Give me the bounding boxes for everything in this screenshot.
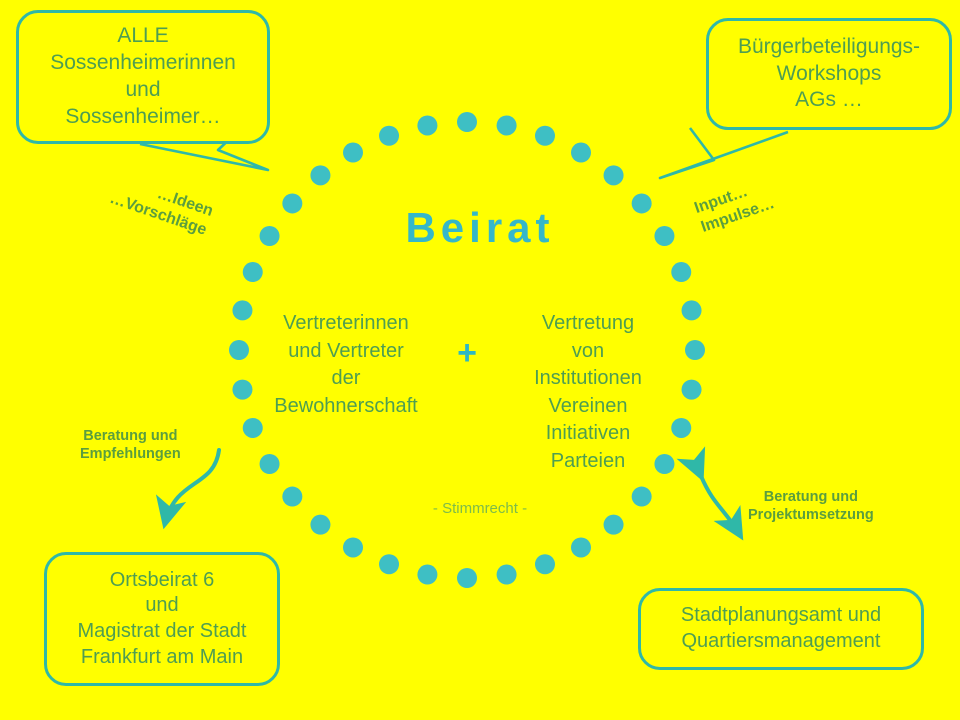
- caption-beratung-empfehlungen: Beratung und Empfehlungen: [80, 428, 181, 463]
- circle-dot: [417, 565, 437, 585]
- circle-dot: [243, 262, 263, 282]
- circle-dot: [671, 262, 691, 282]
- column-line: und Vertreter: [265, 338, 427, 366]
- circle-dot: [457, 112, 477, 132]
- callout-line: Sossenheimer…: [65, 104, 220, 131]
- circle-dot: [571, 537, 591, 557]
- callout-box-buergerbeteiligung[interactable]: Bürgerbeteiligungs- Workshops AGs …: [706, 18, 952, 130]
- circle-dot: [243, 418, 263, 438]
- callout-box-alle[interactable]: ALLE Sossenheimerinnen und Sossenheimer…: [16, 10, 270, 144]
- circle-dot: [379, 554, 399, 574]
- column-line: Institutionen: [507, 365, 669, 393]
- column-line: Parteien: [507, 448, 669, 476]
- column-line: der: [265, 365, 427, 393]
- callout-line: Bürgerbeteiligungs-: [738, 34, 920, 61]
- center-columns: Vertreterinnen und Vertreter der Bewohne…: [265, 310, 669, 476]
- callout-line: Workshops: [777, 61, 882, 88]
- callout-line: Quartiersmanagement: [682, 629, 881, 655]
- callout-line: Stadtplanungsamt und: [681, 603, 881, 629]
- plus-icon: +: [444, 310, 490, 370]
- circle-dot: [379, 126, 399, 146]
- circle-dot: [604, 165, 624, 185]
- circle-dot: [604, 515, 624, 535]
- circle-dot: [497, 565, 517, 585]
- circle-dot: [457, 568, 477, 588]
- callout-line: Ortsbeirat 6: [110, 568, 214, 594]
- circle-dot: [229, 340, 249, 360]
- caption-line: Empfehlungen: [80, 446, 181, 464]
- callout-line: ALLE: [117, 23, 168, 50]
- column-institutionen: Vertretung von Institutionen Vereinen In…: [507, 310, 669, 476]
- circle-dot: [232, 300, 252, 320]
- circle-dot: [671, 418, 691, 438]
- column-line: Initiativen: [507, 420, 669, 448]
- callout-line: Magistrat der Stadt: [78, 619, 247, 645]
- callout-line: Frankfurt am Main: [81, 645, 243, 671]
- circle-dot: [535, 126, 555, 146]
- callout-box-ortsbeirat[interactable]: Ortsbeirat 6 und Magistrat der Stadt Fra…: [44, 552, 280, 686]
- callout-box-stadtplanungsamt[interactable]: Stadtplanungsamt und Quartiersmanagement: [638, 588, 924, 670]
- callout-line: und: [145, 593, 178, 619]
- caption-line: Beratung und: [80, 428, 181, 446]
- circle-dot: [232, 380, 252, 400]
- circle-dot: [343, 537, 363, 557]
- circle-dot: [535, 554, 555, 574]
- circle-dot: [310, 165, 330, 185]
- circle-dot: [497, 115, 517, 135]
- column-bewohnerschaft: Vertreterinnen und Vertreter der Bewohne…: [265, 310, 427, 420]
- circle-dot: [682, 300, 702, 320]
- column-line: von: [507, 338, 669, 366]
- column-line: Vertretung: [507, 310, 669, 338]
- circle-dot: [417, 115, 437, 135]
- column-line: Bewohnerschaft: [265, 393, 427, 421]
- stimmrecht-note: - Stimmrecht -: [0, 500, 960, 517]
- circle-dot: [571, 143, 591, 163]
- circle-dot: [310, 515, 330, 535]
- circle-dot: [343, 143, 363, 163]
- column-line: Vereinen: [507, 393, 669, 421]
- callout-tail-buergerbeteiligung: [660, 128, 788, 178]
- callout-line: und: [125, 77, 160, 104]
- circle-dot: [685, 340, 705, 360]
- callout-line: Sossenheimerinnen: [50, 50, 236, 77]
- diagram-canvas: ALLE Sossenheimerinnen und Sossenheimer……: [0, 0, 960, 720]
- callout-line: AGs …: [795, 87, 863, 114]
- circle-dot: [682, 380, 702, 400]
- page-title: Beirat: [0, 204, 960, 252]
- column-line: Vertreterinnen: [265, 310, 427, 338]
